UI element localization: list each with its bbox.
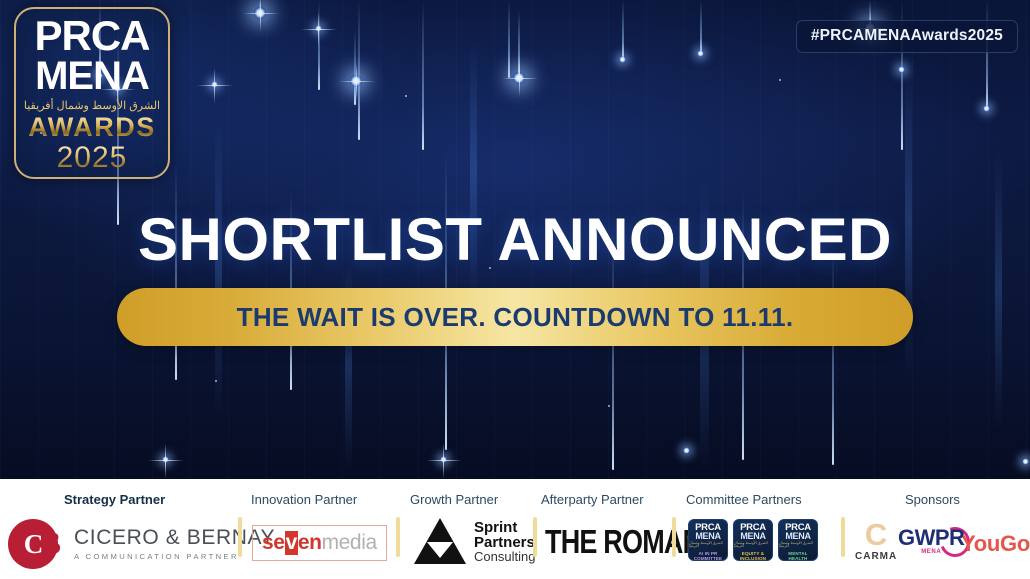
carma-name: CARMA bbox=[855, 551, 897, 562]
logo-committee-partners[interactable]: PRCA MENA الشرق الأوسط وشمال أفريقيا AI … bbox=[688, 519, 823, 561]
committee-badge-ai-in-pr[interactable]: PRCA MENA الشرق الأوسط وشمال أفريقيا AI … bbox=[688, 519, 728, 561]
label-sponsors: Sponsors bbox=[905, 492, 960, 507]
sprint-line-2: Partners bbox=[474, 535, 535, 550]
headline-text: SHORTLIST ANNOUNCED bbox=[0, 205, 1030, 274]
gwpr-name: GWPR bbox=[898, 527, 964, 549]
light-streak bbox=[422, 0, 424, 150]
committee-region: MENA bbox=[785, 532, 810, 541]
label-growth-partner: Growth Partner bbox=[410, 492, 498, 507]
label-innovation-partner: Innovation Partner bbox=[251, 492, 357, 507]
sponsor-divider bbox=[672, 517, 676, 557]
gwpr-wordmark: GWPR MENA bbox=[898, 527, 964, 555]
countdown-banner-text: THE WAIT IS OVER. COUNTDOWN TO 11.11. bbox=[237, 302, 794, 333]
logo-gwpr[interactable]: GWPR MENA bbox=[898, 527, 964, 555]
light-streak bbox=[622, 0, 624, 60]
label-committee-partners: Committee Partners bbox=[686, 492, 802, 507]
committee-tagline: MENTAL HEALTH COMMITTEE bbox=[784, 551, 812, 561]
cicero-bernay-wordmark: CICERO & BERNAY A COMMUNICATION PARTNER bbox=[74, 527, 275, 560]
star-dot bbox=[608, 405, 610, 407]
sevenmedia-v: v bbox=[285, 531, 298, 555]
star-dot bbox=[779, 79, 781, 81]
label-afterparty-partner: Afterparty Partner bbox=[541, 492, 644, 507]
countdown-banner: THE WAIT IS OVER. COUNTDOWN TO 11.11. bbox=[117, 288, 913, 346]
carma-c-icon: C bbox=[865, 523, 887, 548]
sprint-line-3: Consulting bbox=[474, 550, 535, 563]
carma-wordmark: C CARMA bbox=[855, 523, 897, 562]
sponsor-divider bbox=[396, 517, 400, 557]
sponsor-divider bbox=[533, 517, 537, 557]
cicero-bernay-monogram-icon: C B bbox=[8, 519, 58, 569]
logo-sevenmedia[interactable]: sevenmedia bbox=[252, 525, 387, 561]
sponsor-labels: Strategy Partner Innovation Partner Grow… bbox=[0, 492, 1030, 508]
streak-head bbox=[1022, 458, 1029, 465]
star-dot bbox=[405, 95, 407, 97]
logo-mena-text: MENA bbox=[35, 56, 149, 96]
light-streak bbox=[700, 0, 702, 55]
light-streak bbox=[358, 0, 360, 140]
cicero-bernay-name: CICERO & BERNAY bbox=[74, 527, 275, 549]
logo-arabic-text: الشرق الأوسط وشمال أفريقيا bbox=[24, 99, 160, 112]
sponsor-footer: Strategy Partner Innovation Partner Grow… bbox=[0, 479, 1030, 579]
logo-prca-text: PRCA bbox=[34, 16, 149, 56]
sprint-line-1: Sprint bbox=[474, 520, 535, 535]
hashtag-badge: #PRCAMENAAwards2025 bbox=[796, 20, 1018, 53]
committee-badge-equity-inclusion[interactable]: PRCA MENA الشرق الأوسط وشمال أفريقيا EQU… bbox=[733, 519, 773, 561]
streak-head bbox=[697, 50, 704, 57]
logo-year-text: 2025 bbox=[57, 141, 128, 174]
sponsor-divider bbox=[841, 517, 845, 557]
committee-badge-mental-health[interactable]: PRCA MENA الشرق الأوسط وشمال أفريقيا MEN… bbox=[778, 519, 818, 561]
committee-tagline: AI IN PR COMMITTEE bbox=[694, 551, 722, 561]
logo-awards-text: AWARDS bbox=[28, 113, 156, 141]
cicero-monogram-c: C bbox=[24, 529, 41, 560]
promo-graphic: PRCA MENA الشرق الأوسط وشمال أفريقيا AWA… bbox=[0, 0, 1030, 579]
gwpr-sub: MENA bbox=[921, 549, 941, 555]
committee-arabic: الشرق الأوسط وشمال أفريقيا bbox=[779, 542, 817, 549]
streak-head bbox=[683, 447, 690, 454]
prca-mena-awards-logo: PRCA MENA الشرق الأوسط وشمال أفريقيا AWA… bbox=[14, 7, 170, 179]
sevenmedia-wordmark: sevenmedia bbox=[252, 525, 387, 561]
light-streak bbox=[832, 250, 834, 465]
cicero-bernay-tagline: A COMMUNICATION PARTNER bbox=[74, 552, 275, 561]
sevenmedia-media: media bbox=[322, 531, 377, 555]
committee-region: MENA bbox=[740, 532, 765, 541]
logo-yougov[interactable]: YouGov bbox=[961, 531, 1030, 557]
sponsor-divider bbox=[238, 517, 242, 557]
sprint-wordmark: Sprint Partners Consulting bbox=[474, 520, 535, 563]
sprint-triangle-icon bbox=[414, 518, 466, 564]
streak-head bbox=[983, 105, 990, 112]
yougov-wordmark: YouGov bbox=[961, 531, 1030, 557]
cicero-monogram-b: B bbox=[39, 528, 61, 561]
label-strategy-partner: Strategy Partner bbox=[64, 492, 165, 507]
committee-region: MENA bbox=[695, 532, 720, 541]
logo-cicero-bernay[interactable]: C B CICERO & BERNAY A COMMUNICATION PART… bbox=[8, 519, 275, 569]
committee-tagline: EQUITY & INCLUSION COMMITTEE bbox=[739, 551, 767, 561]
sevenmedia-se: se bbox=[262, 531, 285, 555]
committee-arabic: الشرق الأوسط وشمال أفريقيا bbox=[734, 542, 772, 549]
logo-sprint-partners[interactable]: Sprint Partners Consulting bbox=[414, 518, 535, 564]
sponsor-logos: C B CICERO & BERNAY A COMMUNICATION PART… bbox=[0, 513, 1030, 573]
logo-carma[interactable]: C CARMA bbox=[855, 523, 897, 562]
committee-arabic: الشرق الأوسط وشمال أفريقيا bbox=[689, 542, 727, 549]
sevenmedia-en: en bbox=[298, 531, 322, 555]
star-dot bbox=[215, 380, 217, 382]
streak-head bbox=[619, 56, 626, 63]
light-streak bbox=[508, 0, 510, 78]
streak-head bbox=[898, 66, 905, 73]
hero-background: PRCA MENA الشرق الأوسط وشمال أفريقيا AWA… bbox=[0, 0, 1030, 479]
light-column bbox=[995, 150, 1002, 430]
light-streak bbox=[986, 0, 988, 110]
